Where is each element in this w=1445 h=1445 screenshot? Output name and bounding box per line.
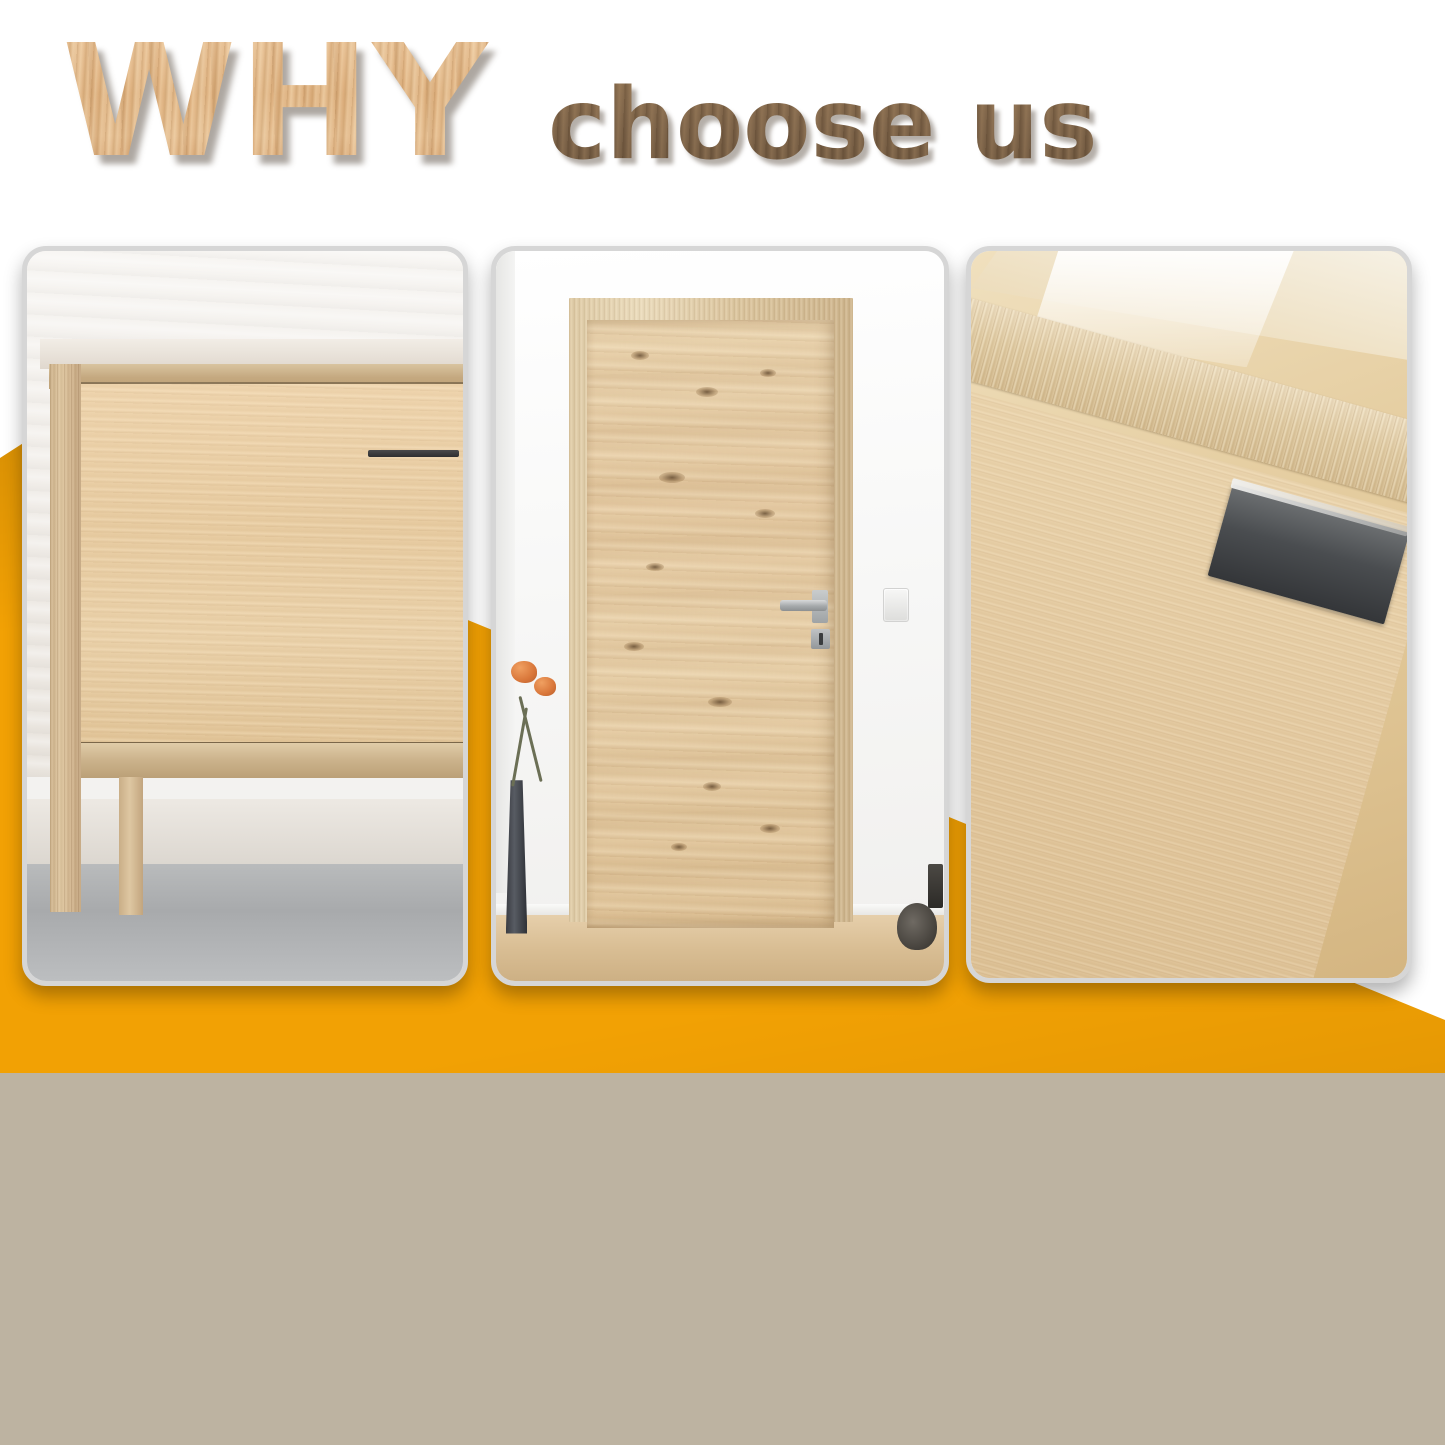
cabinet-center-leg bbox=[119, 777, 143, 916]
photo-1-scene bbox=[27, 251, 463, 981]
keyhole-icon bbox=[819, 633, 823, 645]
cabinet-left-leg bbox=[50, 364, 81, 912]
feature-list: HIGH QUALITY MATERIAL NATURE OAK WOOD WI… bbox=[0, 1073, 1445, 1445]
wood-knot-icon bbox=[703, 782, 721, 791]
page-title: WHY choose us bbox=[0, 0, 1445, 230]
wood-knot-icon bbox=[624, 642, 644, 651]
cabinet-bottom-rail bbox=[81, 742, 463, 778]
wood-knot-icon bbox=[755, 509, 775, 518]
photo-oak-drawer-edge-detail bbox=[966, 246, 1412, 983]
wood-knot-icon bbox=[696, 387, 718, 397]
photo-2-scene bbox=[496, 251, 944, 981]
door-lever-handle bbox=[780, 600, 827, 611]
wood-knot-icon bbox=[708, 697, 732, 707]
infographic-canvas: WHY choose us bbox=[0, 0, 1445, 1445]
photo-3-scene bbox=[971, 251, 1407, 978]
wood-knot-icon bbox=[631, 351, 649, 360]
cabinet-bar-handle bbox=[368, 450, 460, 457]
wood-knot-icon bbox=[646, 563, 664, 571]
light-switch-rocker bbox=[885, 590, 907, 620]
dark-object bbox=[928, 864, 943, 908]
wood-knot-icon bbox=[760, 824, 780, 833]
wood-knot-icon bbox=[760, 369, 776, 377]
cabinet-door-panel bbox=[81, 382, 463, 742]
wall-base bbox=[27, 799, 463, 865]
light-switch bbox=[883, 588, 909, 622]
title-word-choose-us: choose us bbox=[548, 76, 1098, 174]
dried-flower-bloom bbox=[511, 661, 537, 683]
title-word-why: WHY bbox=[62, 24, 489, 179]
concrete-floor bbox=[27, 864, 463, 981]
dried-flower-bloom bbox=[534, 677, 556, 696]
wood-knot-icon bbox=[671, 843, 687, 851]
wood-log-stool bbox=[897, 903, 937, 950]
photo-oak-interior-door bbox=[491, 246, 949, 986]
wood-knot-icon bbox=[659, 472, 685, 483]
photo-oak-sideboard-cabinet bbox=[22, 246, 468, 986]
door-leaf bbox=[587, 320, 834, 927]
